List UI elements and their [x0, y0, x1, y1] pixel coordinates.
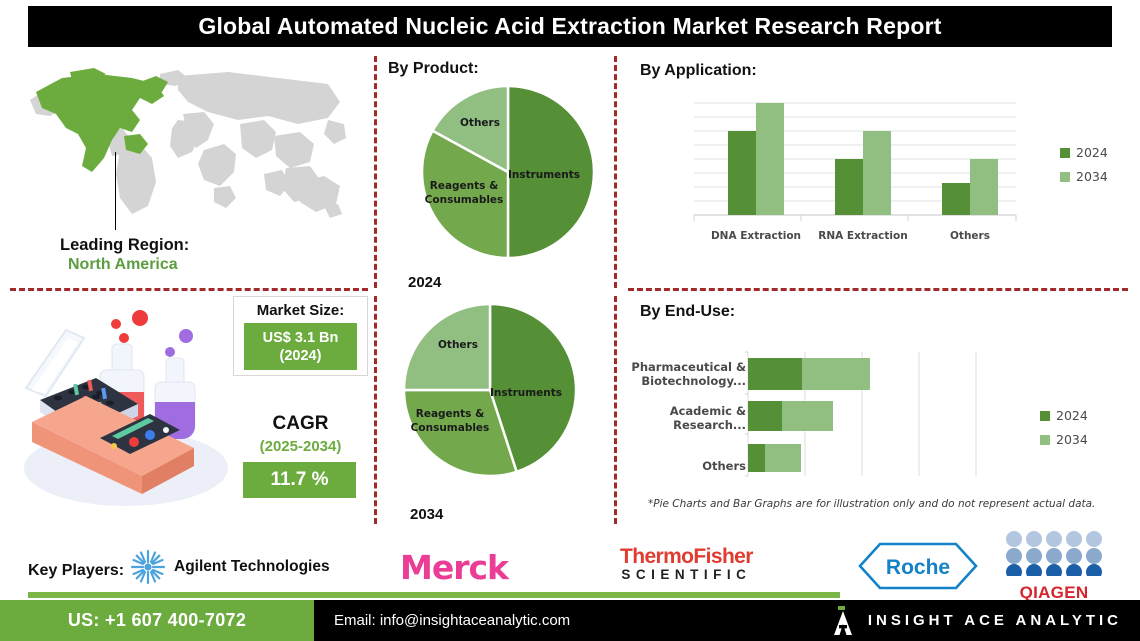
pie-chart-2024: Instruments Reagents & Consumables Other…: [418, 82, 598, 262]
svg-text:Others: Others: [438, 339, 478, 351]
qiagen-dots-icon: [1000, 530, 1118, 576]
pie-chart-2034: Instruments Reagents & Consumables Other…: [400, 300, 580, 480]
svg-text:Instruments: Instruments: [490, 387, 562, 399]
bar-rna-2034: [863, 131, 891, 215]
divider-vertical-mid: [614, 56, 617, 288]
market-size-box: Market Size: US$ 3.1 Bn (2024): [233, 296, 368, 376]
bar-others-2034: [970, 159, 998, 215]
bar-academic-2034: [782, 401, 833, 431]
legend-swatch-2024: [1060, 148, 1070, 158]
application-bar-chart: DNA Extraction RNA Extraction Others: [686, 95, 1031, 230]
svg-text:Reagents &: Reagents &: [416, 408, 485, 420]
svg-text:Others: Others: [460, 117, 500, 129]
legend-label-enduse-2024: 2024: [1056, 408, 1088, 423]
legend-swatch-enduse-2034: [1040, 435, 1050, 445]
page-title: Global Automated Nucleic Acid Extraction…: [198, 13, 941, 40]
logo-merck: Merck: [400, 548, 508, 587]
legend-item-2024: 2024: [1060, 145, 1108, 160]
bar-pharma-2024: [748, 358, 802, 390]
divider-horizontal-right: [628, 288, 1128, 291]
svg-text:Others: Others: [950, 230, 990, 242]
legend-item-2034: 2034: [1060, 169, 1108, 184]
logo-thermofisher-label: ThermoFisher: [620, 546, 753, 567]
cagr-value-badge: 11.7 %: [243, 462, 356, 498]
world-map-icon: [28, 62, 348, 222]
leading-region-value: North America: [68, 256, 178, 274]
enduse-bar-chart: [745, 348, 985, 488]
bar-dna-2024: [728, 131, 756, 215]
logo-qiagen: QIAGEN: [1000, 530, 1118, 592]
divider-horizontal-left: [10, 288, 368, 291]
logo-roche: Roche: [858, 540, 978, 592]
key-players-label: Key Players:: [28, 562, 124, 580]
bar-dna-2034: [756, 103, 784, 215]
market-size-year: (2024): [280, 347, 322, 365]
logo-merck-label: Merck: [400, 548, 508, 587]
footer-phone-panel: US: +1 607 400-7072: [0, 600, 314, 641]
market-size-value: US$ 3.1 Bn: [263, 329, 339, 347]
roche-hexagon-icon: Roche: [858, 540, 978, 592]
lab-equipment-illustration: [14, 296, 239, 511]
bar-academic-2024: [748, 401, 782, 431]
legend-item-enduse-2024: 2024: [1040, 408, 1088, 423]
svg-text:Consumables: Consumables: [411, 422, 490, 434]
logo-thermofisher: ThermoFisher SCIENTIFIC: [620, 546, 753, 582]
svg-text:Instruments: Instruments: [508, 169, 580, 181]
agilent-starburst-icon: [128, 547, 168, 587]
logo-agilent-label: Agilent Technologies: [174, 558, 330, 576]
header-banner: Global Automated Nucleic Acid Extraction…: [28, 6, 1112, 47]
bar-others-2024: [942, 183, 970, 215]
enduse-category-label-academic: Academic &Research...: [626, 404, 746, 432]
insightace-a-icon: [832, 606, 854, 636]
pie-year-2024: 2024: [408, 274, 441, 291]
bar-enduse-others-2034: [765, 444, 801, 472]
bar-pharma-2034: [802, 358, 870, 390]
bar-enduse-others-2024: [748, 444, 765, 472]
chart-footnote: *Pie Charts and Bar Graphs are for illus…: [648, 498, 1095, 510]
bar-rna-2024: [835, 159, 863, 215]
section-title-application: By Application:: [640, 62, 757, 80]
pie-year-2034: 2034: [410, 506, 443, 523]
footer-brand-label: INSIGHT ACE ANALYTIC: [868, 612, 1122, 629]
divider-vertical-mid-lower: [614, 296, 617, 524]
legend-label-2034: 2034: [1076, 169, 1108, 184]
divider-vertical-left: [374, 56, 377, 288]
application-chart-legend: 2024 2034: [1060, 145, 1108, 193]
legend-label-2024: 2024: [1076, 145, 1108, 160]
svg-text:RNA Extraction: RNA Extraction: [818, 230, 907, 242]
footer-bar: US: +1 607 400-7072 Email: info@insighta…: [0, 600, 1140, 641]
legend-swatch-2034: [1060, 172, 1070, 182]
leading-region-panel: Leading Region: North America: [10, 56, 365, 286]
logo-thermofisher-sub: SCIENTIFIC: [620, 567, 753, 582]
section-title-enduse: By End-Use:: [640, 303, 735, 321]
svg-text:Roche: Roche: [886, 556, 950, 579]
legend-label-enduse-2034: 2034: [1056, 432, 1088, 447]
green-accent-bar: [28, 592, 840, 598]
cagr-period: (2025-2034): [233, 438, 368, 455]
svg-text:Reagents &: Reagents &: [430, 180, 499, 192]
enduse-category-label-pharma: Pharmaceutical &Biotechnology...: [626, 360, 746, 388]
svg-text:Consumables: Consumables: [425, 194, 504, 206]
footer-email[interactable]: Email: info@insightaceanalytic.com: [334, 600, 570, 641]
enduse-category-label-others: Others: [626, 459, 746, 473]
enduse-chart-legend: 2024 2034: [1040, 408, 1088, 456]
legend-item-enduse-2034: 2034: [1040, 432, 1088, 447]
market-size-value-badge: US$ 3.1 Bn (2024): [244, 323, 357, 370]
footer-brand: INSIGHT ACE ANALYTIC: [832, 600, 1122, 641]
legend-swatch-enduse-2024: [1040, 411, 1050, 421]
section-title-product: By Product:: [388, 60, 479, 78]
infographic-root: Global Automated Nucleic Acid Extraction…: [0, 0, 1140, 641]
logo-agilent: Agilent Technologies: [128, 545, 348, 589]
footer-phone[interactable]: US: +1 607 400-7072: [68, 610, 246, 631]
svg-text:DNA Extraction: DNA Extraction: [711, 230, 801, 242]
map-leader-line: [115, 152, 116, 230]
leading-region-label: Leading Region:: [60, 236, 189, 255]
cagr-title: CAGR: [233, 413, 368, 435]
market-size-title: Market Size:: [257, 302, 345, 319]
divider-vertical-left-lower: [374, 296, 377, 524]
